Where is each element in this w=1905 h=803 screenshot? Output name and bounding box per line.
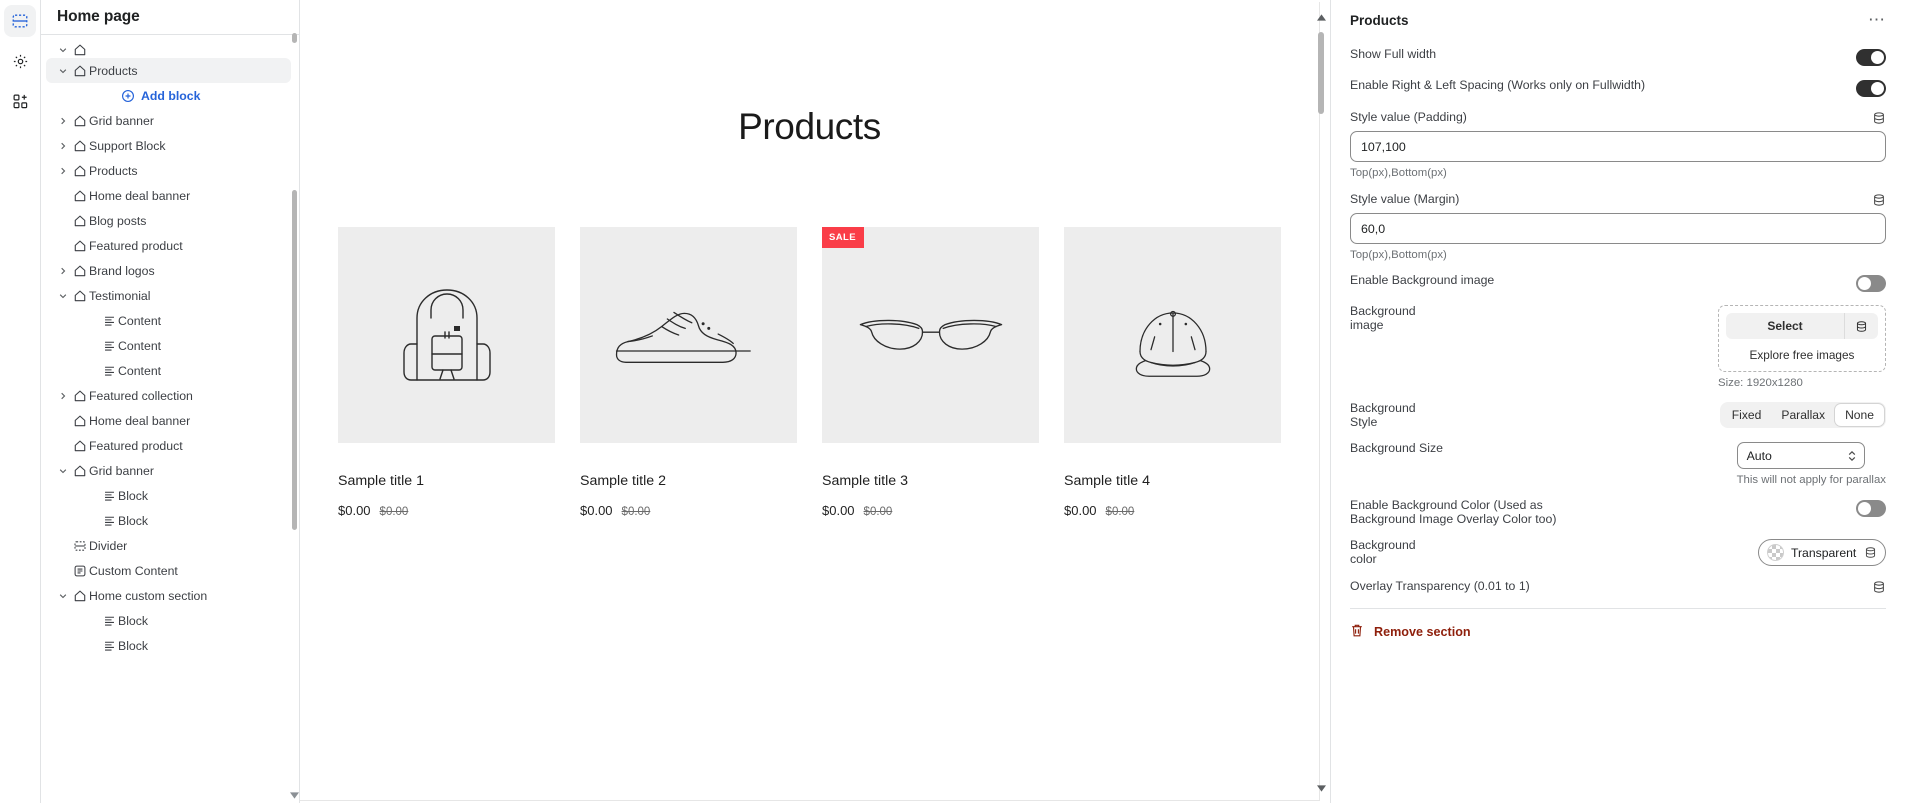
database-icon[interactable] [1864, 546, 1877, 559]
sidebar-item-block[interactable]: Block [46, 508, 291, 533]
background-size-helper: This will not apply for parallax [1737, 474, 1886, 486]
product-grid: Sample title 1$0.00$0.00Sample title 2$0… [300, 227, 1319, 518]
home-icon [71, 388, 89, 404]
trash-icon [1350, 623, 1364, 641]
overlay-transparency-header: Overlay Transparency (0.01 to 1) [1350, 580, 1886, 594]
product-price: $0.00 [1064, 503, 1097, 518]
product-price-row: $0.00$0.00 [338, 503, 555, 518]
sidebar-header: Home page [41, 0, 299, 35]
explore-free-images-link[interactable]: Explore free images [1726, 348, 1878, 362]
database-icon[interactable] [1844, 313, 1878, 339]
background-image-label: Background image [1350, 305, 1436, 332]
background-image-dropzone[interactable]: Select Explore free images [1718, 305, 1886, 372]
sidebar-item-block[interactable]: Block [46, 608, 291, 633]
sidebar-item-content[interactable]: Content [46, 308, 291, 333]
background-style-label: Background Style [1350, 402, 1436, 429]
sidebar-item-divider[interactable]: Divider [46, 533, 291, 558]
sidebar-item-label: Brand logos [89, 264, 155, 278]
tree-row-partial[interactable] [46, 44, 291, 58]
product-card[interactable]: Sample title 4$0.00$0.00 [1064, 227, 1281, 518]
apps-add-icon [12, 93, 29, 110]
background-color-picker[interactable]: Transparent [1758, 539, 1886, 566]
product-card[interactable]: SALESample title 3$0.00$0.00 [822, 227, 1039, 518]
sidebar-item-featured-product[interactable]: Featured product [46, 233, 291, 258]
right-left-spacing-toggle[interactable] [1856, 80, 1886, 97]
home-icon [71, 188, 89, 204]
sidebar-item-featured-product[interactable]: Featured product [46, 433, 291, 458]
home-icon [71, 44, 89, 58]
storefront-canvas: Products Sample title 1$0.00$0.00Sample … [300, 2, 1320, 801]
rail-item-settings[interactable] [4, 45, 36, 77]
panel-header: Products ⋯ [1350, 5, 1886, 35]
product-thumbnail[interactable] [1064, 227, 1281, 443]
setting-enable-bg-image: Enable Background image [1350, 274, 1886, 292]
sidebar-item-label: Block [118, 639, 148, 653]
padding-value: 107,100 [1361, 140, 1406, 154]
section-settings-panel: Products ⋯ Show Full width Enable Right … [1330, 0, 1905, 803]
product-price-row: $0.00$0.00 [580, 503, 797, 518]
product-card[interactable]: Sample title 1$0.00$0.00 [338, 227, 555, 518]
chevron-right-icon[interactable] [55, 163, 71, 179]
sidebar-item-label: Featured product [89, 439, 183, 453]
canvas-scroll-thumb[interactable] [1318, 32, 1324, 114]
chevron-down-icon[interactable] [55, 588, 71, 604]
preview-heading: Products [300, 106, 1319, 148]
enable-bg-image-label: Enable Background image [1350, 274, 1494, 288]
sidebar-item-testimonial[interactable]: Testimonial [46, 283, 291, 308]
backpack-illustration [387, 270, 507, 400]
sidebar-item-label: Grid banner [89, 464, 154, 478]
chevron-down-icon[interactable] [55, 288, 71, 304]
overlay-transparency-label: Overlay Transparency (0.01 to 1) [1350, 580, 1530, 594]
rail-item-apps[interactable] [4, 85, 36, 117]
background-size-value: Auto [1747, 449, 1772, 463]
sidebar-item-products[interactable]: Products [46, 158, 291, 183]
home-icon [71, 238, 89, 254]
setting-background-image: Background image Select Explore free ima… [1350, 305, 1886, 389]
margin-helper: Top(px),Bottom(px) [1350, 249, 1886, 261]
content-icon [100, 513, 118, 529]
sidebar-item-content[interactable]: Content [46, 358, 291, 383]
sidebar-item-grid-banner[interactable]: Grid banner [46, 108, 291, 133]
background-size-select[interactable]: Auto [1737, 442, 1865, 469]
add-block-label: Add block [141, 89, 200, 103]
sidebar-item-home-deal-banner[interactable]: Home deal banner [46, 408, 291, 433]
background-color-label: Background color [1350, 539, 1436, 566]
home-icon [71, 438, 89, 454]
color-swatch [1767, 544, 1784, 561]
chevron-right-icon[interactable] [55, 113, 71, 129]
padding-label: Style value (Padding) [1350, 111, 1467, 125]
home-icon [71, 263, 89, 279]
plus-circle-icon [121, 89, 135, 103]
show-full-width-toggle[interactable] [1856, 49, 1886, 66]
sidebar-item-label: Block [118, 489, 148, 503]
sidebar-item-label: Home custom section [89, 589, 207, 603]
background-image-size-note: Size: 1920x1280 [1718, 377, 1886, 389]
sidebar-item-label: Grid banner [89, 114, 154, 128]
product-price-row: $0.00$0.00 [822, 503, 1039, 518]
database-icon[interactable] [1872, 580, 1886, 594]
setting-background-size: Background Size Auto This will not apply… [1350, 442, 1886, 486]
ellipsis-icon[interactable]: ⋯ [1868, 15, 1886, 25]
sidebar-item-label: Content [118, 314, 161, 328]
chevron-updown-icon [1848, 450, 1856, 462]
content-icon [100, 338, 118, 354]
background-style-option-parallax[interactable]: Parallax [1771, 404, 1835, 426]
add-block-button[interactable]: Add block [41, 83, 299, 108]
background-size-label: Background Size [1350, 442, 1443, 456]
home-icon [71, 138, 89, 154]
setting-background-color: Background color Transparent [1350, 539, 1886, 566]
sidebar-item-grid-banner[interactable]: Grid banner [46, 458, 291, 483]
sidebar-item-label: Support Block [89, 139, 166, 153]
glasses-illustration [851, 302, 1011, 368]
product-thumbnail[interactable] [338, 227, 555, 443]
sidebar-item-home-deal-banner[interactable]: Home deal banner [46, 183, 291, 208]
sections-sidebar: Home page ProductsAdd blockGrid bannerSu… [41, 0, 300, 803]
sidebar-item-blog-posts[interactable]: Blog posts [46, 208, 291, 233]
product-title[interactable]: Sample title 1 [338, 473, 555, 489]
remove-section-button[interactable]: Remove section [1350, 623, 1886, 641]
sale-badge: SALE [822, 227, 864, 248]
sidebar-item-brand-logos[interactable]: Brand logos [46, 258, 291, 283]
margin-input[interactable]: 60,0 [1350, 213, 1886, 244]
product-price: $0.00 [580, 503, 613, 518]
sidebar-item-label: Content [118, 364, 161, 378]
panel-title: Products [1350, 13, 1409, 28]
content-icon [100, 613, 118, 629]
chevron-down-icon[interactable] [55, 463, 71, 479]
enable-bg-image-toggle[interactable] [1856, 275, 1886, 292]
preview-area: Products Sample title 1$0.00$0.00Sample … [300, 0, 1330, 803]
gear-icon [12, 53, 29, 70]
product-thumbnail[interactable]: SALE [822, 227, 1039, 443]
sidebar-item-label: Home deal banner [89, 189, 190, 203]
divider-icon [71, 538, 89, 554]
theme-editor-app: Home page ProductsAdd blockGrid bannerSu… [0, 0, 1905, 803]
chevron-down-icon[interactable] [55, 44, 71, 58]
scroll-up-arrow[interactable] [1317, 8, 1326, 26]
padding-input[interactable]: 107,100 [1350, 131, 1886, 162]
sidebar-item-label: Home deal banner [89, 414, 190, 428]
page-title: Home page [57, 8, 140, 26]
sidebar-item-label: Custom Content [89, 564, 178, 578]
content-icon [100, 313, 118, 329]
background-style-segmented-control[interactable]: FixedParallaxNone [1720, 402, 1886, 428]
sidebar-item-featured-collection[interactable]: Featured collection [46, 383, 291, 408]
sidebar-scrollbar-thumb[interactable] [292, 190, 297, 530]
cap-illustration [1118, 280, 1228, 390]
select-image-button[interactable]: Select [1726, 313, 1878, 339]
chevron-right-icon[interactable] [55, 138, 71, 154]
product-title[interactable]: Sample title 4 [1064, 473, 1281, 489]
select-image-label: Select [1726, 313, 1844, 339]
product-title[interactable]: Sample title 2 [580, 473, 797, 489]
padding-helper: Top(px),Bottom(px) [1350, 167, 1886, 179]
home-icon [71, 288, 89, 304]
chevron-right-icon[interactable] [55, 263, 71, 279]
toggle-knob [1871, 51, 1884, 64]
setting-background-style: Background Style FixedParallaxNone [1350, 402, 1886, 429]
sidebar-item-support-block[interactable]: Support Block [46, 133, 291, 158]
product-compare-price: $0.00 [380, 506, 409, 518]
home-icon [71, 213, 89, 229]
product-title[interactable]: Sample title 3 [822, 473, 1039, 489]
content-icon [100, 488, 118, 504]
home-icon [71, 588, 89, 604]
sidebar-item-label: Blog posts [89, 214, 146, 228]
sneaker-illustration [609, 290, 769, 380]
sidebar-scroll-thumb-top[interactable] [292, 33, 297, 43]
panel-divider [1350, 608, 1886, 609]
content-icon [100, 638, 118, 654]
setting-enable-bg-color: Enable Background Color (Used as Backgro… [1350, 499, 1886, 526]
toggle-knob [1858, 502, 1871, 515]
sidebar-item-block[interactable]: Block [46, 483, 291, 508]
home-icon [71, 63, 89, 79]
enable-bg-color-label: Enable Background Color (Used as Backgro… [1350, 499, 1600, 526]
sidebar-item-label: Testimonial [89, 289, 151, 303]
custom-content-icon [71, 563, 89, 579]
product-compare-price: $0.00 [864, 506, 893, 518]
sidebar-item-home-custom-section[interactable]: Home custom section [46, 583, 291, 608]
sidebar-item-label: Products [89, 64, 138, 78]
background-style-option-fixed[interactable]: Fixed [1722, 404, 1772, 426]
sidebar-item-label: Featured product [89, 239, 183, 253]
remove-section-label: Remove section [1374, 625, 1471, 639]
sidebar-item-content[interactable]: Content [46, 333, 291, 358]
section-tree[interactable]: ProductsAdd blockGrid bannerSupport Bloc… [41, 35, 299, 803]
sidebar-scroll-down-arrow[interactable] [289, 789, 299, 801]
product-price-row: $0.00$0.00 [1064, 503, 1281, 518]
content-icon [100, 363, 118, 379]
sidebar-item-custom-content[interactable]: Custom Content [46, 558, 291, 583]
scroll-down-arrow[interactable] [1317, 779, 1326, 797]
sidebar-item-products[interactable]: Products [46, 58, 291, 83]
toggle-knob [1858, 277, 1871, 290]
sidebar-item-label: Featured collection [89, 389, 193, 403]
chevron-right-icon[interactable] [55, 388, 71, 404]
toggle-knob [1871, 82, 1884, 95]
enable-bg-color-toggle[interactable] [1856, 500, 1886, 517]
sidebar-item-label: Products [89, 164, 138, 178]
product-compare-price: $0.00 [622, 506, 651, 518]
margin-value: 60,0 [1361, 222, 1385, 236]
product-card[interactable]: Sample title 2$0.00$0.00 [580, 227, 797, 518]
chevron-down-icon[interactable] [55, 63, 71, 79]
canvas-scrollbar[interactable] [1313, 2, 1329, 803]
show-full-width-label: Show Full width [1350, 48, 1436, 62]
margin-label: Style value (Margin) [1350, 193, 1459, 207]
home-icon [71, 113, 89, 129]
sidebar-item-block[interactable]: Block [46, 633, 291, 658]
right-left-spacing-label: Enable Right & Left Spacing (Works only … [1350, 79, 1645, 93]
database-icon[interactable] [1872, 111, 1886, 125]
margin-field-header: Style value (Margin) [1350, 193, 1886, 207]
padding-field-header: Style value (Padding) [1350, 111, 1886, 125]
home-icon [71, 413, 89, 429]
product-compare-price: $0.00 [1106, 506, 1135, 518]
database-icon[interactable] [1872, 193, 1886, 207]
left-icon-rail [0, 0, 41, 803]
sections-icon [11, 12, 29, 30]
product-thumbnail[interactable] [580, 227, 797, 443]
sidebar-item-label: Content [118, 339, 161, 353]
product-price: $0.00 [822, 503, 855, 518]
rail-item-sections[interactable] [4, 5, 36, 37]
home-icon [71, 163, 89, 179]
background-color-value: Transparent [1791, 546, 1857, 560]
setting-show-full-width: Show Full width [1350, 48, 1886, 66]
sidebar-item-label: Divider [89, 539, 127, 553]
sidebar-item-label: Block [118, 514, 148, 528]
setting-right-left-spacing: Enable Right & Left Spacing (Works only … [1350, 79, 1886, 97]
background-style-option-none[interactable]: None [1835, 404, 1884, 426]
home-icon [71, 463, 89, 479]
product-price: $0.00 [338, 503, 371, 518]
sidebar-item-label: Block [118, 614, 148, 628]
